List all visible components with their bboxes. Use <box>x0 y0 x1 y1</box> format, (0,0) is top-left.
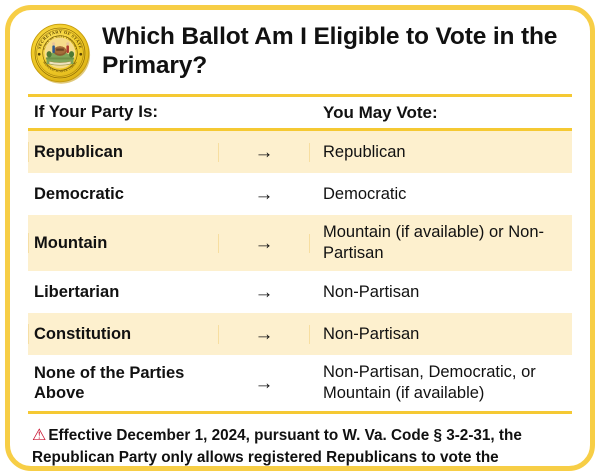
column-header-vote: You May Vote: <box>310 102 572 123</box>
warning-triangle-icon: ⚠ <box>32 427 46 444</box>
row-vote: Mountain (if available) or Non-Partisan <box>310 222 572 263</box>
eligibility-table: If Your Party Is: You May Vote: <box>28 97 572 128</box>
eligibility-table-body: Republican → Republican Democratic → Dem… <box>28 131 572 411</box>
page-title: Which Ballot Am I Eligible to Vote in th… <box>102 19 572 81</box>
row-party: Libertarian <box>28 282 218 302</box>
secretary-of-state-seal-icon: SECRETARY OF STATE STATE OF WEST VIRGINI… <box>28 21 92 85</box>
row-vote: Non-Partisan <box>310 324 572 345</box>
table-row: Libertarian → Non-Partisan <box>28 271 572 313</box>
arrow-icon: → <box>218 283 310 302</box>
row-vote: Republican <box>310 142 572 163</box>
row-vote: Democratic <box>310 184 572 205</box>
infographic-card: SECRETARY OF STATE STATE OF WEST VIRGINI… <box>5 5 595 471</box>
arrow-icon: → <box>218 325 310 344</box>
row-party: None of the Parties Above <box>28 363 218 403</box>
footer-note: ⚠Effective December 1, 2024, pursuant to… <box>32 425 568 471</box>
footer-note-text: Effective December 1, 2024, pursuant to … <box>32 427 522 471</box>
row-party: Mountain <box>28 233 218 253</box>
table-header-row: If Your Party Is: You May Vote: <box>28 97 572 128</box>
table-row: Republican → Republican <box>28 131 572 173</box>
table-divider-bottom <box>28 411 572 414</box>
row-party: Democratic <box>28 184 218 204</box>
arrow-icon: → <box>218 234 310 253</box>
header: SECRETARY OF STATE STATE OF WEST VIRGINI… <box>10 10 590 85</box>
table-row: Democratic → Democratic <box>28 173 572 215</box>
row-party: Republican <box>28 142 218 162</box>
table-row: None of the Parties Above → Non-Partisan… <box>28 355 572 411</box>
row-vote: Non-Partisan <box>310 282 572 303</box>
row-party: Constitution <box>28 324 218 344</box>
arrow-icon: → <box>218 185 310 204</box>
column-header-party: If Your Party Is: <box>28 102 218 123</box>
arrow-icon: → <box>218 143 310 162</box>
table-row: Constitution → Non-Partisan <box>28 313 572 355</box>
arrow-icon: → <box>218 374 310 393</box>
row-vote: Non-Partisan, Democratic, or Mountain (i… <box>310 362 572 403</box>
table-row: Mountain → Mountain (if available) or No… <box>28 215 572 271</box>
